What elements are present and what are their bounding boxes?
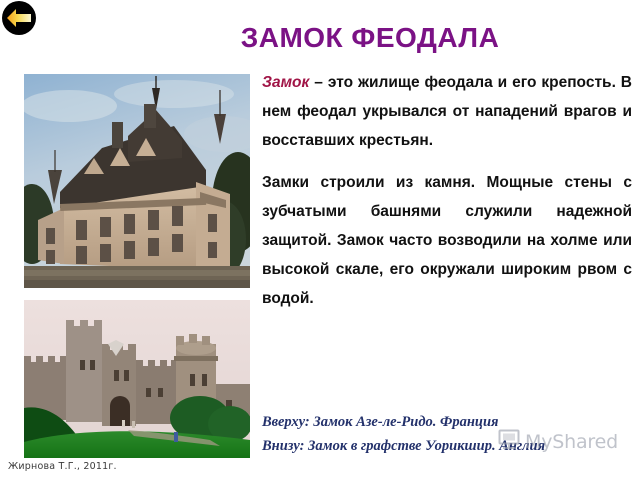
left-arrow-icon xyxy=(2,1,36,35)
body-text: Замок – это жилище феодала и его крепост… xyxy=(262,68,632,313)
caption-bottom-image: Внизу: Замок в графстве Уорикшир. Англия xyxy=(262,434,634,458)
image-captions: Вверху: Замок Азе-ле-Ридо. Франция Внизу… xyxy=(262,410,634,458)
paragraph-construction-text: Замки строили из камня. Мощные стены с з… xyxy=(262,174,632,307)
presentation-slide: ЗАМОК ФЕОДАЛА xyxy=(0,0,640,480)
page-title: ЗАМОК ФЕОДАЛА xyxy=(120,22,620,54)
back-button[interactable] xyxy=(2,1,36,35)
term-zamok: Замок xyxy=(262,74,309,91)
image-castle-azay-le-rideau xyxy=(24,74,250,288)
image-castle-warwickshire xyxy=(24,300,250,458)
paragraph-definition: Замок – это жилище феодала и его крепост… xyxy=(262,68,632,155)
paragraph-definition-text: – это жилище феодала и его крепость. В н… xyxy=(262,74,632,149)
paragraph-construction: Замки строили из камня. Мощные стены с з… xyxy=(262,168,632,313)
author-credit: Жирнова Т.Г., 2011г. xyxy=(8,461,117,472)
caption-top-image: Вверху: Замок Азе-ле-Ридо. Франция xyxy=(262,410,634,434)
